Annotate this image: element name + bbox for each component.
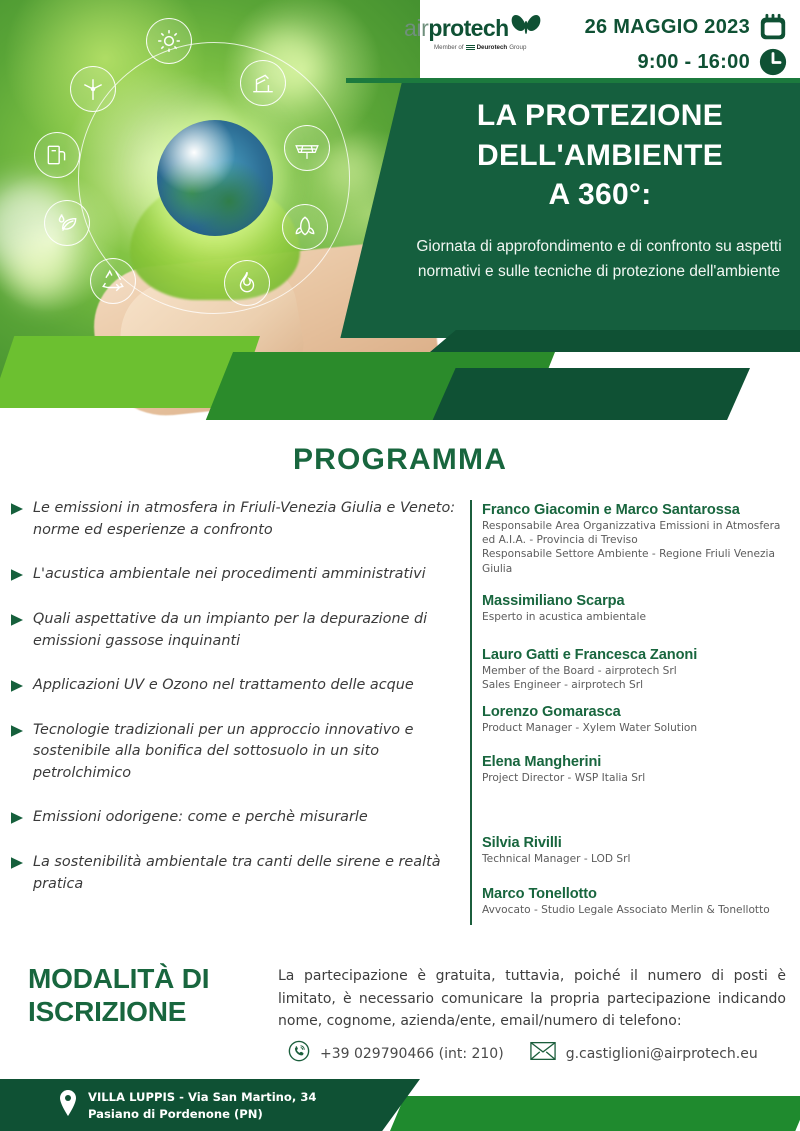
iscrizione-heading-line2: ISCRIZIONE (28, 995, 268, 1028)
fuel-pump-icon (34, 132, 80, 178)
topic-text: Tecnologie tradizionali per un approccio… (33, 720, 460, 786)
poster-footer: VILLA LUPPIS - Via San Martino, 34 Pasia… (0, 1079, 800, 1131)
speaker-name: Lorenzo Gomarasca (482, 704, 794, 720)
phone-icon (288, 1040, 310, 1067)
speaker-name: Franco Giacomin e Marco Santarossa (482, 502, 794, 518)
contacts-row: +39 029790466 (int: 210) g.castiglioni@a… (288, 1040, 788, 1067)
phone-number: +39 029790466 (int: 210) (320, 1046, 504, 1062)
topic-text: L'acustica ambientale nei procedimenti a… (33, 564, 426, 586)
topics-list: Le emissioni in atmosfera in Friuli-Vene… (10, 498, 460, 918)
speaker-entry: Lorenzo Gomarasca Product Manager - Xyle… (482, 704, 794, 735)
speaker-role: Project Director - WSP Italia Srl (482, 771, 794, 785)
band-dark-top (430, 330, 800, 352)
envelope-icon (530, 1041, 556, 1066)
oil-pump-icon (240, 60, 286, 106)
event-time: 9:00 - 16:00 (637, 51, 750, 74)
list-item: Le emissioni in atmosfera in Friuli-Vene… (10, 498, 460, 542)
logo-member-line: Member of Deurotech Group (434, 44, 526, 51)
footer-band-mid (390, 1096, 800, 1131)
iscrizione-heading: MODALITÀ DI ISCRIZIONE (28, 962, 268, 1028)
topic-text: Emissioni odorigene: come e perchè misur… (33, 807, 368, 829)
title-line-1: LA PROTEZIONE (400, 96, 800, 136)
column-divider (470, 500, 472, 925)
band-dark-green (430, 368, 750, 420)
arrow-bullet-icon (10, 613, 25, 632)
logo-protech-text: protech (428, 15, 508, 42)
deurotech-bars-icon (466, 45, 475, 51)
speaker-name: Silvia Rivilli (482, 835, 794, 851)
poster-header: airprotech Member of Deurotech Group (0, 0, 800, 420)
topic-text: Quali aspettative da un impianto per la … (33, 609, 460, 653)
event-date: 26 MAGGIO 2023 (585, 16, 750, 39)
flame-icon (224, 260, 270, 306)
venue-line-2: Pasiano di Pordenone (PN) (88, 1106, 316, 1122)
bokeh-blob (10, 240, 70, 300)
phone-contact[interactable]: +39 029790466 (int: 210) (288, 1040, 504, 1067)
recycle-icon (90, 258, 136, 304)
sun-icon (146, 18, 192, 64)
corn-icon (282, 204, 328, 250)
list-item: Tecnologie tradizionali per un approccio… (10, 720, 460, 786)
arrow-bullet-icon (10, 502, 25, 521)
event-datetime: 26 MAGGIO 2023 9:00 - 16:00 (518, 12, 788, 77)
logo-member-prefix: Member of (434, 44, 464, 51)
speaker-entry: Elena Mangherini Project Director - WSP … (482, 754, 794, 785)
topic-text: Applicazioni UV e Ozono nel trattamento … (33, 675, 414, 697)
logo-member-brand: Deurotech (477, 44, 508, 51)
calendar-icon (758, 12, 788, 42)
arrow-bullet-icon (10, 724, 25, 743)
header-rule (346, 78, 800, 83)
speaker-role: Avvocato - Studio Legale Associato Merli… (482, 903, 794, 917)
speaker-entry: Massimiliano Scarpa Esperto in acustica … (482, 593, 794, 624)
speaker-role: Member of the Board - airprotech Srl Sal… (482, 664, 794, 692)
venue-block: VILLA LUPPIS - Via San Martino, 34 Pasia… (58, 1089, 316, 1122)
list-item: Emissioni odorigene: come e perchè misur… (10, 807, 460, 830)
arrow-bullet-icon (10, 856, 25, 875)
clock-icon (758, 47, 788, 77)
arrow-bullet-icon (10, 811, 25, 830)
speaker-name: Elena Mangherini (482, 754, 794, 770)
logo-air-text: air (404, 15, 428, 42)
page-subtitle: Giornata di approfondimento e di confron… (400, 234, 798, 284)
email-contact[interactable]: g.castiglioni@airprotech.eu (530, 1041, 758, 1066)
wind-turbine-icon (70, 66, 116, 112)
title-line-3: A 360°: (400, 175, 800, 215)
location-pin-icon (58, 1089, 78, 1122)
email-address: g.castiglioni@airprotech.eu (566, 1046, 758, 1062)
speaker-role: Product Manager - Xylem Water Solution (482, 721, 794, 735)
speaker-role: Esperto in acustica ambientale (482, 610, 794, 624)
iscrizione-heading-line1: MODALITÀ DI (28, 962, 268, 995)
venue-address: VILLA LUPPIS - Via San Martino, 34 Pasia… (88, 1089, 316, 1121)
event-time-row: 9:00 - 16:00 (637, 47, 788, 77)
list-item: La sostenibilità ambientale tra canti de… (10, 852, 460, 896)
speaker-entry: Silvia Rivilli Technical Manager - LOD S… (482, 835, 794, 866)
topic-text: La sostenibilità ambientale tra canti de… (33, 852, 460, 896)
topic-text: Le emissioni in atmosfera in Friuli-Vene… (33, 498, 460, 542)
title-line-2: DELL'AMBIENTE (400, 136, 800, 176)
programma-heading: PROGRAMMA (0, 443, 800, 477)
speaker-name: Marco Tonellotto (482, 886, 794, 902)
list-item: Quali aspettative da un impianto per la … (10, 609, 460, 653)
poster-root: airprotech Member of Deurotech Group (0, 0, 800, 1131)
speaker-entry: Franco Giacomin e Marco Santarossa Respo… (482, 502, 794, 576)
speakers-list: Franco Giacomin e Marco Santarossa Respo… (482, 502, 794, 931)
list-item: Applicazioni UV e Ozono nel trattamento … (10, 675, 460, 698)
speaker-role: Technical Manager - LOD Srl (482, 852, 794, 866)
arrow-bullet-icon (10, 568, 25, 587)
speaker-name: Lauro Gatti e Francesca Zanoni (482, 647, 794, 663)
leaf-water-drop-icon (44, 200, 90, 246)
speaker-entry: Lauro Gatti e Francesca Zanoni Member of… (482, 647, 794, 692)
event-date-row: 26 MAGGIO 2023 (585, 12, 788, 42)
page-title: LA PROTEZIONE DELL'AMBIENTE A 360°: (400, 96, 800, 215)
venue-line-1: VILLA LUPPIS - Via San Martino, 34 (88, 1089, 316, 1105)
speaker-name: Massimiliano Scarpa (482, 593, 794, 609)
arrow-bullet-icon (10, 679, 25, 698)
solar-panel-icon (284, 125, 330, 171)
earth-globe (157, 120, 273, 236)
speaker-role: Responsabile Area Organizzativa Emission… (482, 519, 794, 576)
iscrizione-body: La partecipazione è gratuita, tuttavia, … (278, 965, 786, 1033)
speaker-entry: Marco Tonellotto Avvocato - Studio Legal… (482, 886, 794, 917)
list-item: L'acustica ambientale nei procedimenti a… (10, 564, 460, 587)
